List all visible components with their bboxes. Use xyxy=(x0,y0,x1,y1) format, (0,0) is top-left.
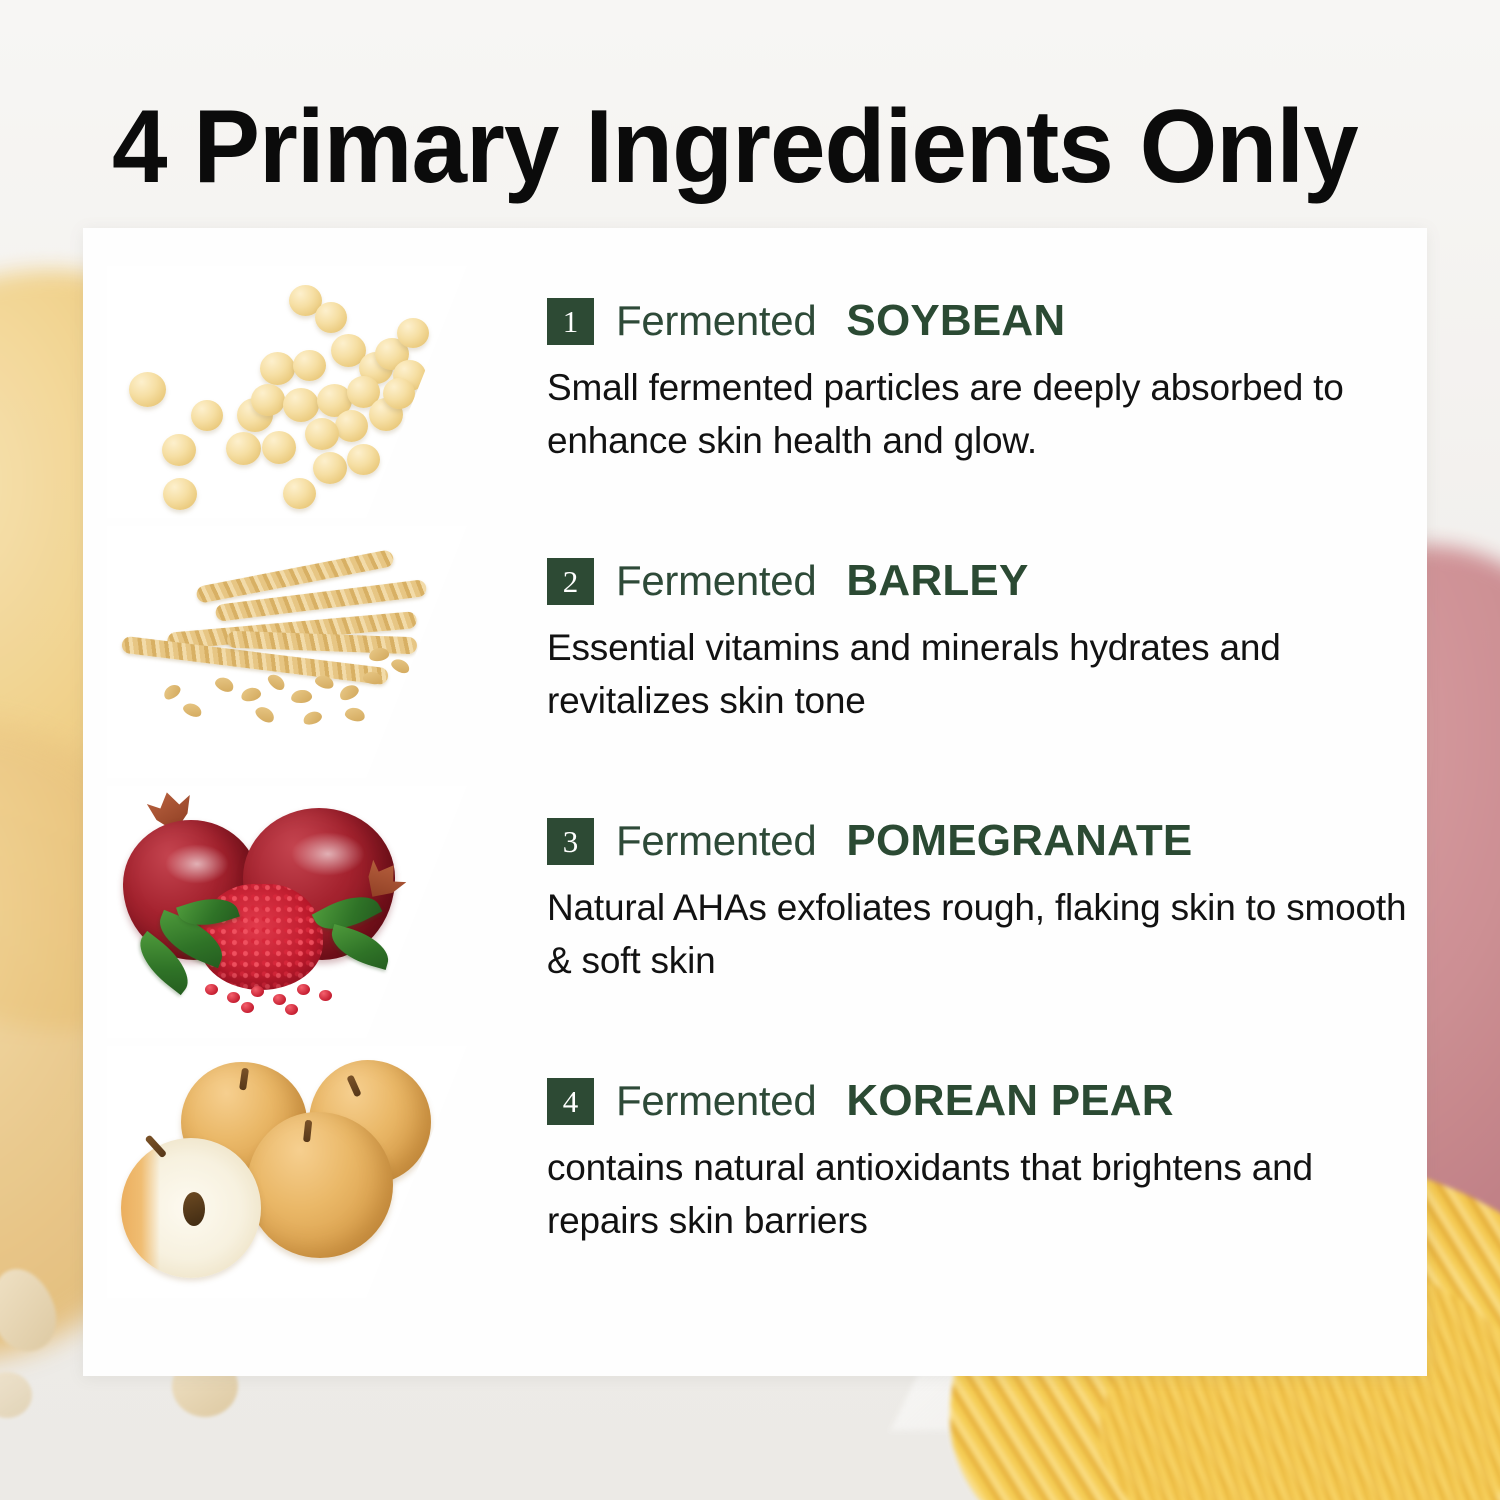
ingredient-name: POMEGRANATE xyxy=(840,816,1198,866)
soybean-heading: 1 Fermented SOYBEAN xyxy=(547,296,1427,346)
ingredient-row-pomegranate: 3 Fermented POMEGRANATE Natural AHAs exf… xyxy=(83,786,1427,1046)
soybean-text-block: 1 Fermented SOYBEAN Small fermented part… xyxy=(467,266,1427,467)
ingredient-number-badge: 1 xyxy=(547,298,594,345)
korean-pear-photo xyxy=(107,1046,467,1298)
fermented-label: Fermented xyxy=(616,817,816,865)
ingredient-description: Natural AHAs exfoliates rough, flaking s… xyxy=(547,882,1427,987)
ingredient-description: Small fermented particles are deeply abs… xyxy=(547,362,1427,467)
ingredient-number-badge: 4 xyxy=(547,1078,594,1125)
pomegranate-heading: 3 Fermented POMEGRANATE xyxy=(547,816,1427,866)
pomegranate-photo xyxy=(107,786,467,1038)
ingredient-number-badge: 3 xyxy=(547,818,594,865)
ingredients-card: 1 Fermented SOYBEAN Small fermented part… xyxy=(83,228,1427,1376)
ingredient-description: contains natural antioxidants that brigh… xyxy=(547,1142,1427,1247)
korean-pear-heading: 4 Fermented KOREAN PEAR xyxy=(547,1076,1427,1126)
soybean-photo xyxy=(107,266,467,518)
ingredient-name: BARLEY xyxy=(840,556,1034,606)
ingredient-row-barley: 2 Fermented BARLEY Essential vitamins an… xyxy=(83,526,1427,786)
ingredient-name: KOREAN PEAR xyxy=(840,1076,1179,1126)
ingredient-name: SOYBEAN xyxy=(840,296,1071,346)
barley-photo xyxy=(107,526,467,778)
ingredient-row-soybean: 1 Fermented SOYBEAN Small fermented part… xyxy=(83,266,1427,526)
fermented-label: Fermented xyxy=(616,557,816,605)
barley-text-block: 2 Fermented BARLEY Essential vitamins an… xyxy=(467,526,1427,727)
ingredient-row-korean-pear: 4 Fermented KOREAN PEAR contains natural… xyxy=(83,1046,1427,1306)
pomegranate-text-block: 3 Fermented POMEGRANATE Natural AHAs exf… xyxy=(467,786,1427,987)
ingredient-description: Essential vitamins and minerals hydrates… xyxy=(547,622,1427,727)
ingredient-number-badge: 2 xyxy=(547,558,594,605)
barley-heading: 2 Fermented BARLEY xyxy=(547,556,1427,606)
infographic-page: 4 Primary Ingredients Only xyxy=(0,0,1500,1500)
page-title: 4 Primary Ingredients Only xyxy=(112,92,1379,202)
fermented-label: Fermented xyxy=(616,297,816,345)
korean-pear-text-block: 4 Fermented KOREAN PEAR contains natural… xyxy=(467,1046,1427,1247)
fermented-label: Fermented xyxy=(616,1077,816,1125)
